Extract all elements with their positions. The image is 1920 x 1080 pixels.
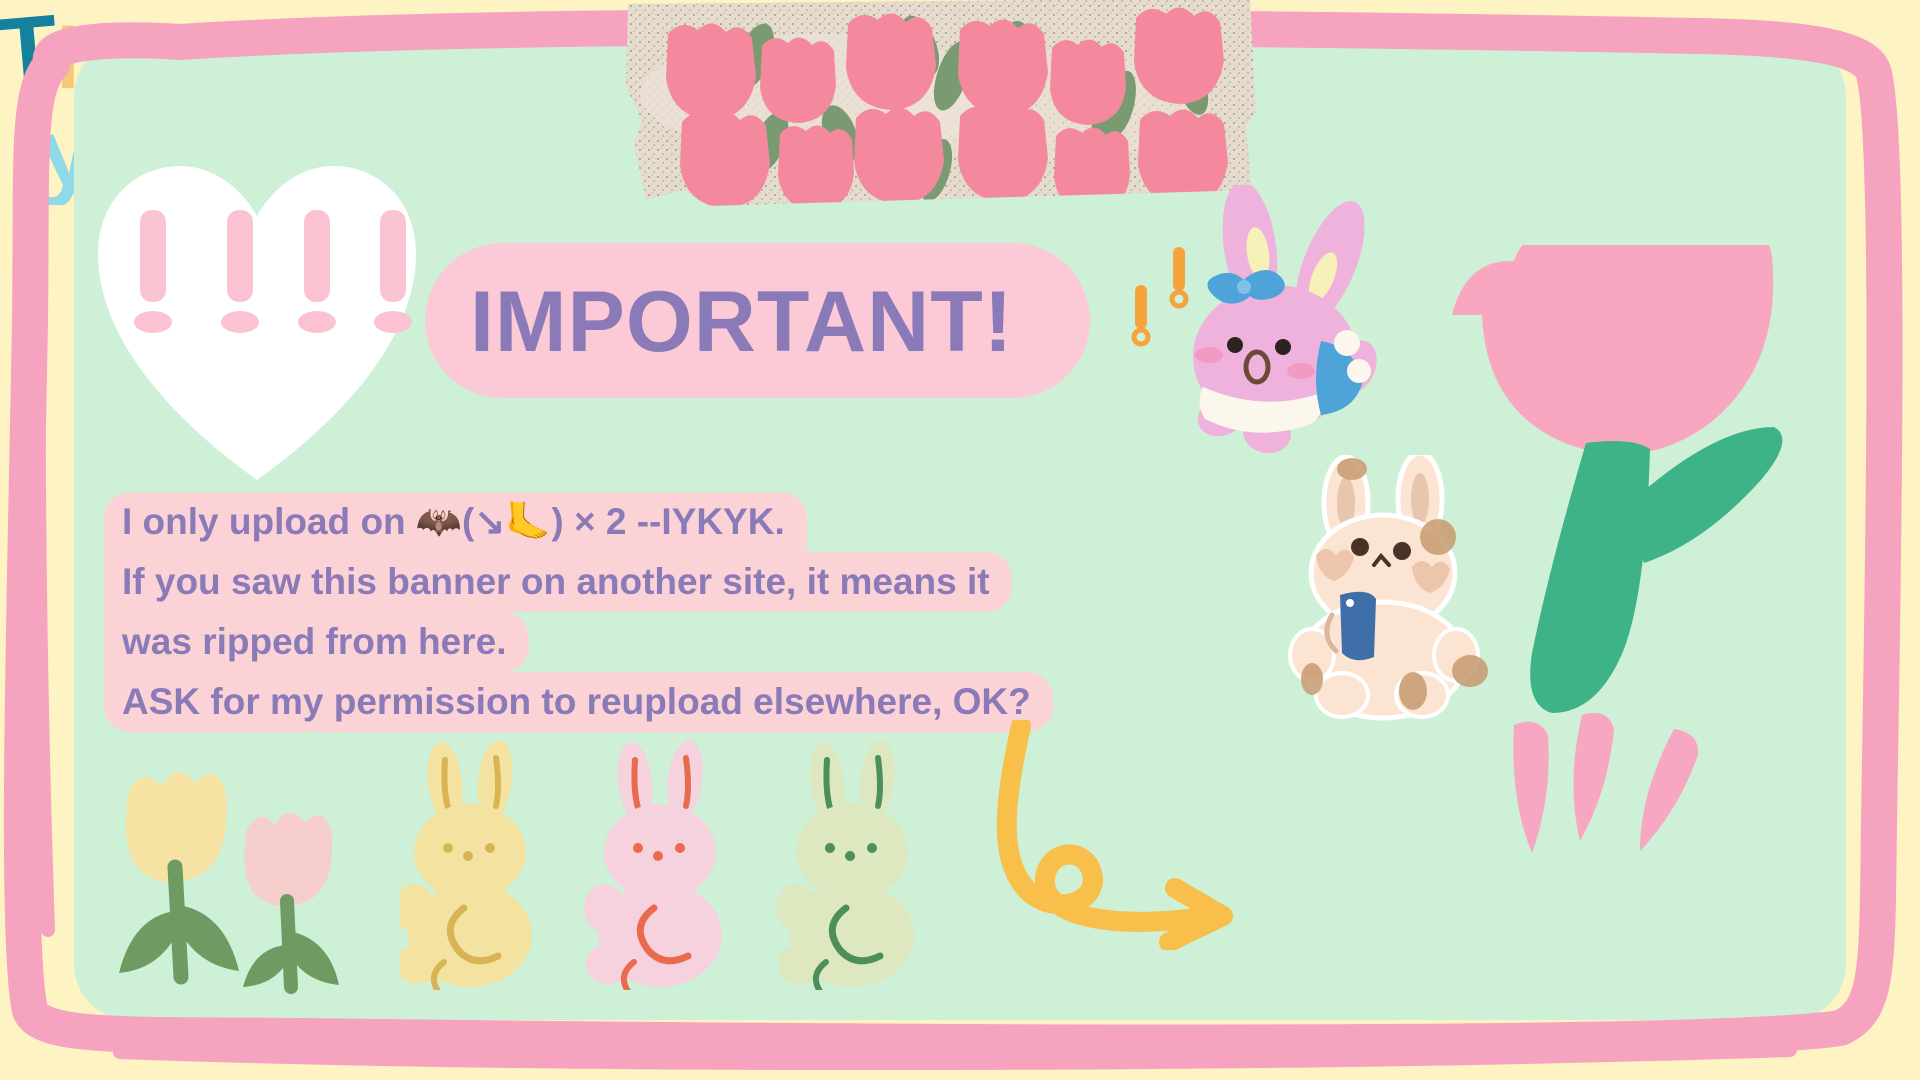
- bunny-cookies-illustration: [400, 740, 970, 990]
- small-tulips-illustration: [95, 745, 375, 995]
- phone-icon: [1340, 592, 1376, 660]
- pink-bunny-with-bow-illustration: [1125, 185, 1425, 485]
- banner-canvas: IMPORTANT! I only upload on 🦇(↘🦶) × 2 --…: [0, 0, 1920, 1080]
- curly-arrow-icon: [995, 720, 1295, 950]
- white-heart-with-exclamations: [92, 150, 422, 490]
- tulip-yellow: [119, 772, 239, 977]
- message-line-2: If you saw this banner on another site, …: [104, 552, 1012, 612]
- large-pink-tulip-illustration: [1440, 245, 1820, 945]
- message-line-3: was ripped from here.: [104, 612, 529, 672]
- message-line-1: I only upload on 🦇(↘🦶) × 2 --IYKYK.: [104, 492, 807, 552]
- tulip-pink: [243, 812, 339, 987]
- bunny-cookie-pink: [584, 740, 722, 990]
- message-line-4: ASK for my permission to reupload elsewh…: [104, 672, 1053, 732]
- bunny-cookie-yellow: [400, 740, 532, 990]
- exclamation-marks-icon: [1134, 247, 1186, 344]
- message-block: I only upload on 🦇(↘🦶) × 2 --IYKYK. If y…: [104, 492, 1053, 732]
- bunny-cookie-green: [776, 740, 914, 990]
- page-title: IMPORTANT!: [470, 263, 1090, 381]
